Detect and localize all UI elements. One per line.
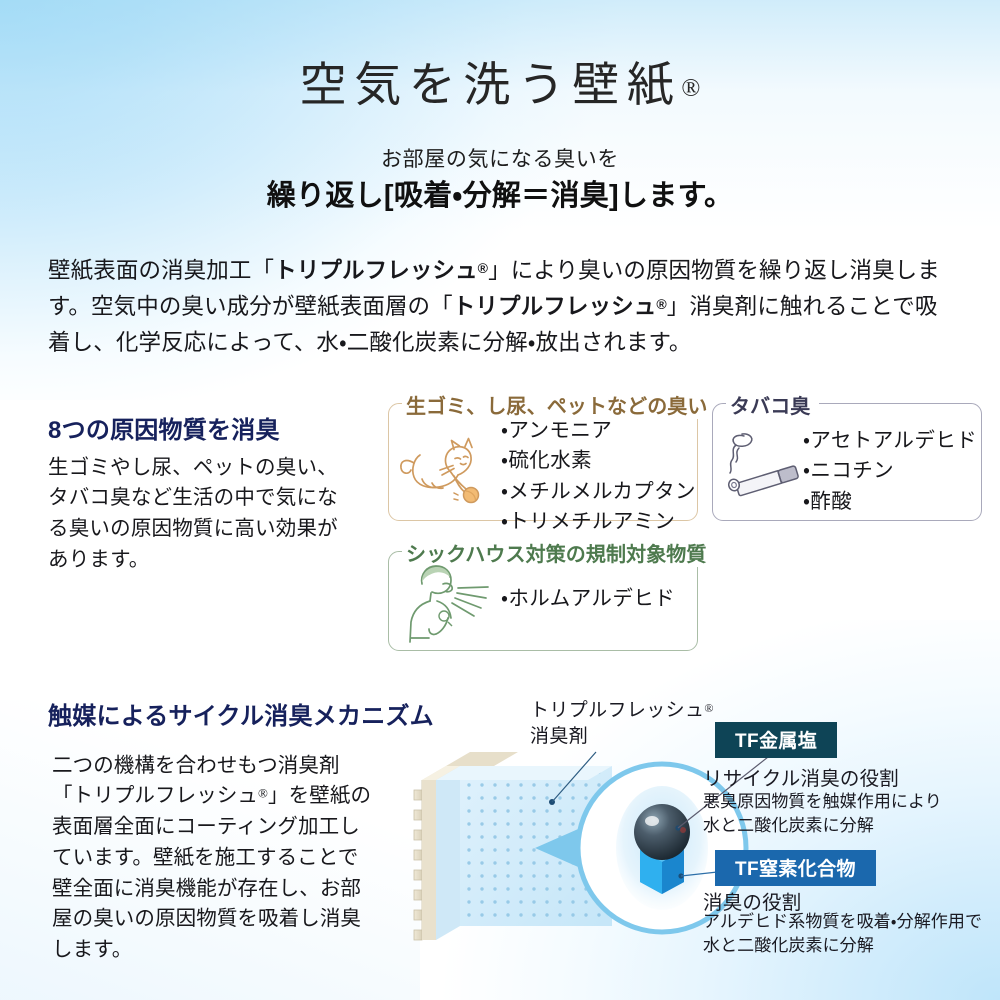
intro-brand-2: トリプルフレッシュ — [453, 294, 657, 319]
diagram-callout-triple-fresh: トリプルフレッシュ® 消臭剤 — [530, 698, 714, 750]
mechanism-text-1: 二つの機構を合わせもつ消臭剤 — [52, 755, 340, 777]
registered-trademark-icon: ® — [656, 296, 666, 312]
list-item: ・アセトアルデヒド — [803, 426, 977, 456]
page-title: 空気を洗う壁紙® — [0, 46, 1000, 115]
list-item: ・ニコチン — [803, 456, 977, 486]
cigarette-icon — [722, 428, 808, 509]
desc-tf-metal-salt: 悪臭原因物質を触媒作用により 水と二酸化炭素に分解 — [703, 790, 942, 838]
page-title-text: 空気を洗う壁紙 — [300, 60, 682, 112]
list-item: ・アンモニア — [501, 416, 696, 446]
subtitle-line-2: 繰り返し[吸着・分解＝消臭]します。 — [0, 172, 1000, 214]
badge-tf-nitrogen-compound: TF窒素化合物 — [715, 850, 876, 886]
list-item: ・酢酸 — [803, 487, 977, 517]
badge-tf-metal-salt: TF金属塩 — [715, 722, 837, 758]
diagram-callout-line-1: トリプルフレッシュ — [530, 700, 704, 721]
intro-bracket-close-2: 」 — [667, 294, 690, 319]
intro-paragraph: 壁紙表面の消臭加工「トリプルフレッシュ®」により臭いの原因物質を繰り返し消臭しま… — [48, 253, 958, 362]
role-tf-metal-salt: リサイクル消臭の役割 — [703, 762, 899, 791]
registered-trademark-icon: ® — [258, 786, 268, 801]
section-heading-mechanism: 触媒によるサイクル消臭メカニズム — [48, 696, 434, 731]
registered-trademark-icon: ® — [704, 701, 714, 715]
list-item: ・ホルムアルデヒド — [501, 584, 675, 614]
mechanism-bracket-open: 「 — [52, 785, 73, 807]
intro-brand-1: トリプルフレッシュ — [274, 258, 478, 283]
list-item: ・硫化水素 — [501, 446, 696, 476]
list-item: ・メチルメルカプタン — [501, 477, 696, 507]
coughing-person-icon — [396, 560, 496, 651]
desc-line: 水と二酸化炭素に分解 — [703, 814, 942, 838]
odor-box-kitchen-legend: 生ゴミ、し尿、ペットなどの臭い — [402, 390, 717, 419]
desc-tf-nitrogen-compound: アルデヒド系物質を吸着・分解作用で 水と二酸化炭素に分解 — [703, 910, 982, 958]
section-body-eight-substances: 生ゴミやし尿、ペットの臭い、タバコ臭など生活の中で気になる臭いの原因物質に高い効… — [48, 453, 353, 576]
mechanism-text-2: を壁紙の表面層全面にコーティング加工しています。壁紙を施工することで壁全面に消臭… — [52, 785, 371, 961]
diagram-callout-line-2: 消臭剤 — [530, 726, 588, 747]
registered-trademark-icon: ® — [681, 75, 700, 102]
intro-bracket-open-2: 「 — [430, 294, 453, 319]
intro-bracket-close-1: 」 — [488, 258, 511, 283]
list-item: ・トリメチルアミン — [501, 507, 696, 537]
odor-box-sickhouse-list: ・ホルムアルデヒド — [501, 584, 675, 614]
mechanism-brand: トリプルフレッシュ — [73, 785, 258, 807]
desc-line: 悪臭原因物質を触媒作用により — [703, 790, 942, 814]
desc-line: 水と二酸化炭素に分解 — [703, 934, 982, 958]
intro-text-1: 壁紙表面の消臭加工 — [48, 258, 252, 283]
cat-icon — [398, 425, 494, 510]
odor-box-tobacco-legend: タバコ臭 — [726, 390, 819, 419]
section-heading-eight-substances: 8つの原因物質を消臭 — [48, 410, 280, 445]
subtitle-line-1: お部屋の気になる臭いを — [0, 143, 1000, 173]
odor-box-kitchen-list: ・アンモニア ・硫化水素 ・メチルメルカプタン ・トリメチルアミン — [501, 416, 696, 537]
odor-box-tobacco-list: ・アセトアルデヒド ・ニコチン ・酢酸 — [803, 426, 977, 517]
mechanism-bracket-close: 」 — [268, 785, 289, 807]
intro-bracket-open-1: 「 — [252, 258, 275, 283]
section-body-mechanism: 二つの機構を合わせもつ消臭剤「トリプルフレッシュ®」を壁紙の表面層全面にコーティ… — [52, 751, 372, 966]
registered-trademark-icon: ® — [478, 260, 488, 276]
desc-line: アルデヒド系物質を吸着・分解作用で — [703, 910, 982, 934]
